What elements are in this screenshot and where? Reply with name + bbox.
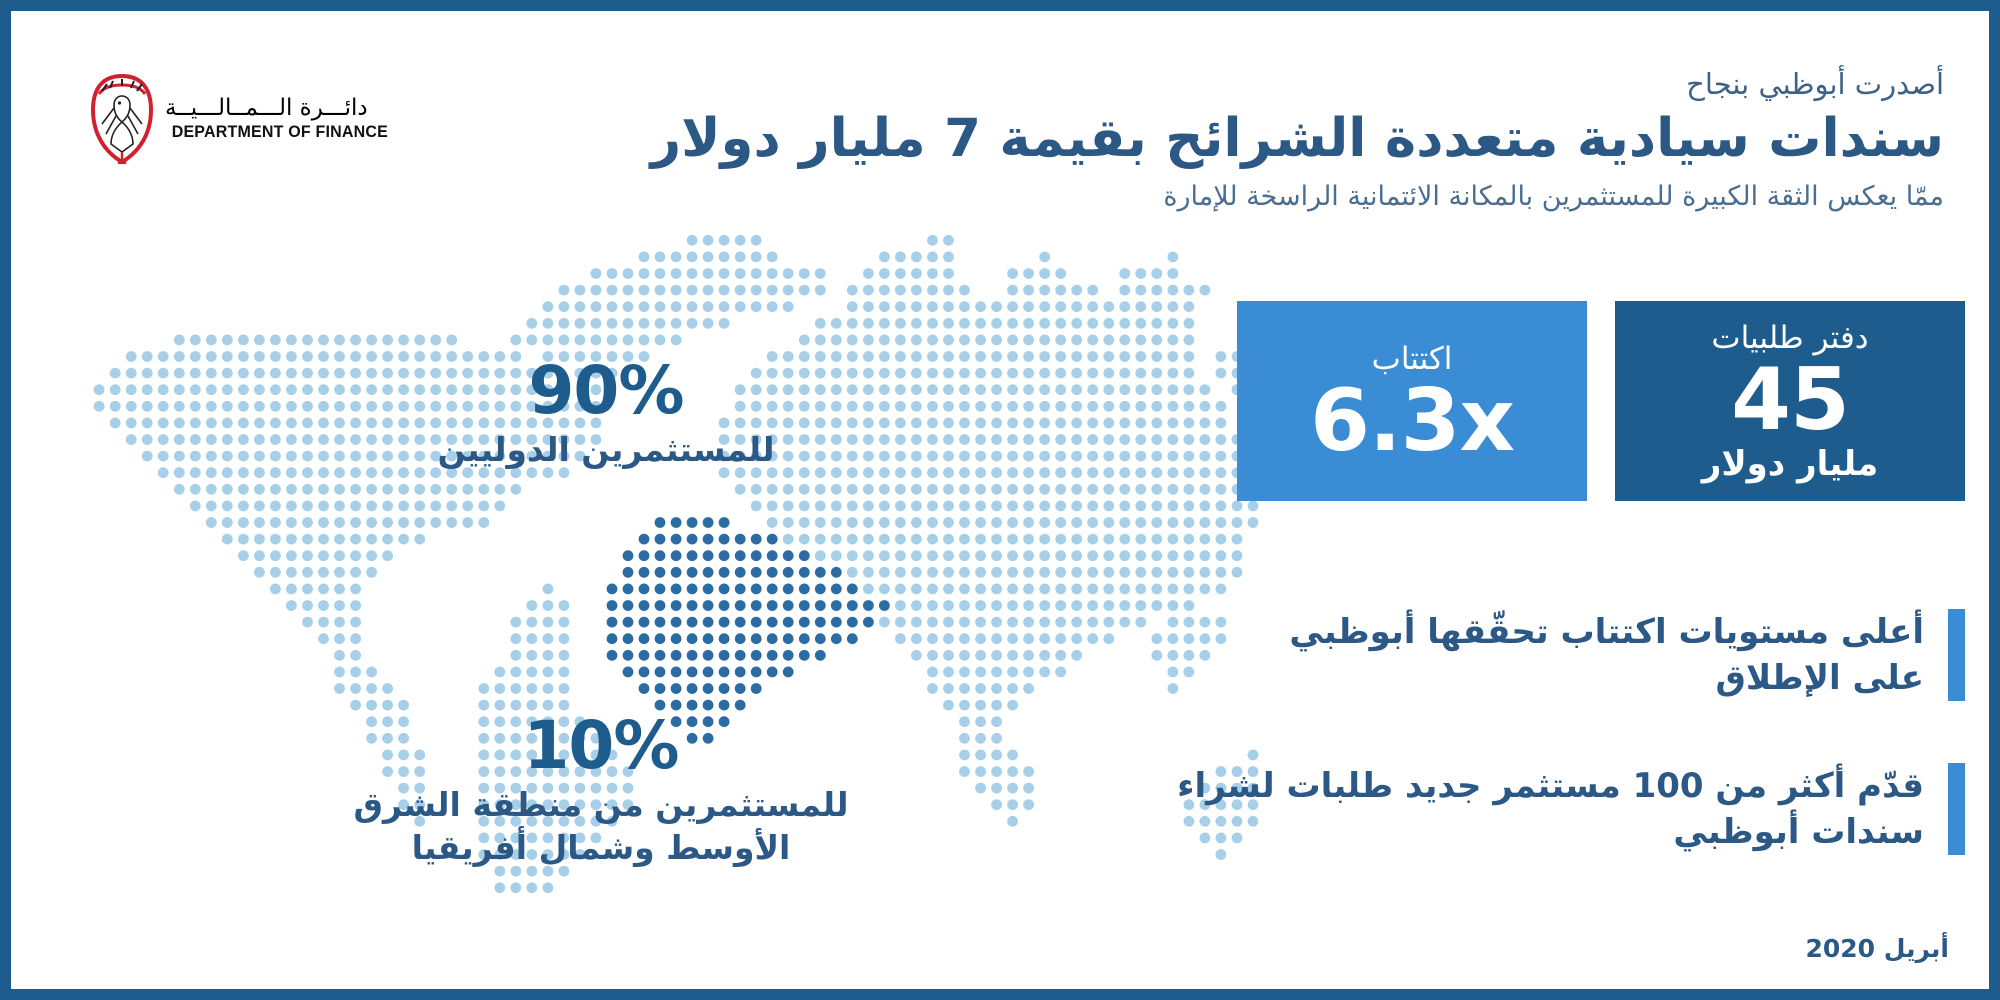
logo-english-text: DEPARTMENT OF FINANCE xyxy=(172,124,388,141)
highlight-text-2: قدّم أكثر من 100 مستثمر جديد طلبات لشراء… xyxy=(1175,763,1924,855)
stat-value-subscription: 6.3x xyxy=(1310,378,1514,466)
abu-dhabi-falcon-crest-icon xyxy=(89,74,155,164)
stat-unit-orderbook: مليار دولار xyxy=(1702,446,1878,483)
header-block: أصدرت أبوظبي بنجاح سندات سيادية متعددة ا… xyxy=(524,66,1944,214)
stat-card-orderbook: دفتر طلبيات 45 مليار دولار xyxy=(1615,301,1965,501)
header-eyebrow: أصدرت أبوظبي بنجاح xyxy=(524,66,1944,102)
stat-card-subscription: اكتتاب 6.3x xyxy=(1237,301,1587,501)
map-callout-international: 90% للمستثمرين الدوليين xyxy=(346,356,866,472)
callout-percent-international: 90% xyxy=(346,356,866,425)
world-map-dot-matrix xyxy=(11,226,1261,1000)
logo-arabic-text: دائـــرة الـــمــالـــيــة xyxy=(165,97,368,120)
callout-description-international: للمستثمرين الدوليين xyxy=(346,429,866,472)
callout-description-mena: للمستثمرين من منطقة الشرق الأوسط وشمال أ… xyxy=(321,784,881,870)
footer-date: أبريل 2020 xyxy=(1805,934,1949,963)
department-of-finance-logo: دائـــرة الـــمــالـــيــة DEPARTMENT OF… xyxy=(89,71,349,166)
infographic-canvas: دائـــرة الـــمــالـــيــة DEPARTMENT OF… xyxy=(0,0,2000,1000)
bullet-accent-bar xyxy=(1948,609,1965,701)
page-title: سندات سيادية متعددة الشرائح بقيمة 7 مليا… xyxy=(524,106,1944,172)
logo-wordmark: دائـــرة الـــمــالـــيــة DEPARTMENT OF… xyxy=(165,97,388,141)
bullet-accent-bar xyxy=(1948,763,1965,855)
map-callout-mena: 10% للمستثمرين من منطقة الشرق الأوسط وشم… xyxy=(321,711,881,870)
callout-percent-mena: 10% xyxy=(321,711,881,780)
stat-value-orderbook: 45 xyxy=(1731,357,1849,445)
header-subtitle: ممّا يعكس الثقة الكبيرة للمستثمرين بالمك… xyxy=(524,179,1944,214)
highlight-item-2: قدّم أكثر من 100 مستثمر جديد طلبات لشراء… xyxy=(1175,763,1965,855)
highlight-item-1: أعلى مستويات اكتتاب تحقّقها أبوظبي على ا… xyxy=(1245,609,1965,701)
highlight-text-1: أعلى مستويات اكتتاب تحقّقها أبوظبي على ا… xyxy=(1245,609,1924,701)
